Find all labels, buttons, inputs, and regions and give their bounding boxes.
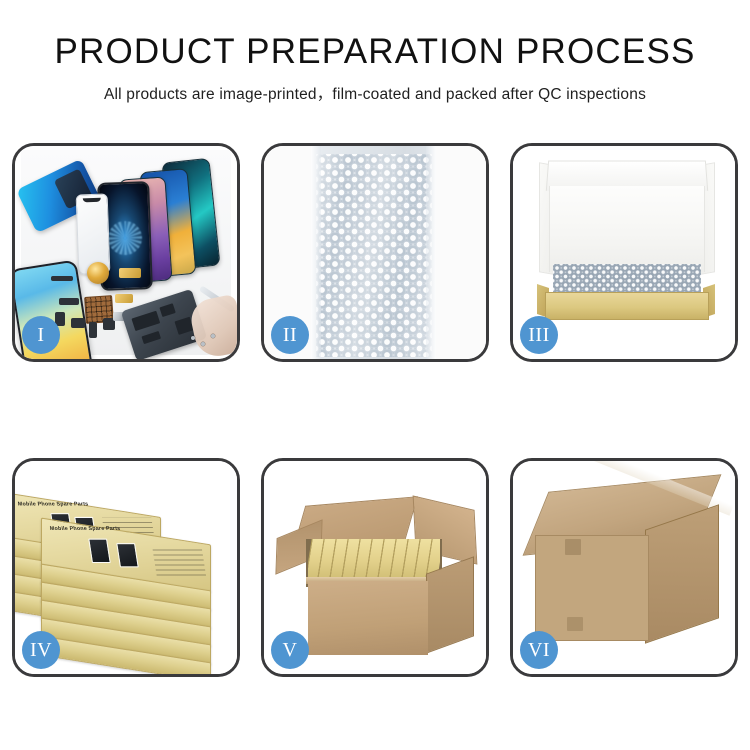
gold-connector-part-icon bbox=[119, 268, 141, 278]
retail-box-label: Mobile Phone Spare Parts bbox=[50, 526, 121, 532]
carton-bottom-tab-icon bbox=[567, 617, 583, 631]
box-window-icon bbox=[88, 539, 111, 563]
step-badge-3: III bbox=[520, 316, 558, 354]
bubble-wrap-left-edge-icon bbox=[311, 146, 321, 359]
bubble-wrap-bubbles-icon bbox=[316, 154, 432, 357]
screw-icon bbox=[211, 334, 215, 338]
step-badge-4: IV bbox=[22, 631, 60, 669]
carton-handle-tab-icon bbox=[565, 539, 581, 555]
step-4-illustration: Mobile Phone Spare Parts Mobile Phone Sp… bbox=[15, 461, 237, 674]
step-panel-2: II bbox=[261, 143, 489, 362]
step-panel-6: VI bbox=[510, 458, 738, 677]
step-panel-1: I bbox=[12, 143, 240, 362]
step-panel-3: III bbox=[510, 143, 738, 362]
sealed-carton-front-icon bbox=[535, 535, 649, 641]
step-1-illustration: I bbox=[15, 146, 237, 359]
box-interior-icon bbox=[549, 186, 705, 272]
step-badge-5: V bbox=[271, 631, 309, 669]
gold-coil-part-icon bbox=[87, 262, 109, 284]
step-panel-5: V bbox=[261, 458, 489, 677]
step-5-illustration: V bbox=[264, 461, 486, 674]
step-2-illustration: II bbox=[264, 146, 486, 359]
step-3-illustration: III bbox=[513, 146, 735, 359]
battery-connector-part-icon bbox=[115, 294, 133, 303]
jellyfish-wallpaper-icon bbox=[107, 220, 142, 255]
page-subtitle: All products are image-printed，film-coat… bbox=[0, 82, 750, 104]
step-badge-2: II bbox=[271, 316, 309, 354]
box-window-icon bbox=[116, 543, 139, 567]
retail-box-label: Mobile Phone Spare Parts bbox=[18, 501, 89, 507]
bubble-wrap-right-edge-icon bbox=[426, 146, 436, 359]
page-title: PRODUCT PREPARATION PROCESS bbox=[0, 34, 750, 71]
screw-icon bbox=[201, 342, 205, 346]
phone-notch-icon bbox=[83, 198, 101, 203]
page-header: PRODUCT PREPARATION PROCESS All products… bbox=[0, 0, 750, 104]
speaker-part-icon bbox=[71, 318, 85, 328]
carton-front-panel-icon bbox=[308, 581, 428, 655]
button-flex-part-icon bbox=[59, 298, 79, 305]
flex-cable-part-icon bbox=[51, 276, 73, 281]
step-badge-6: VI bbox=[520, 631, 558, 669]
step-badge-1: I bbox=[22, 316, 60, 354]
process-steps-grid: I II III bbox=[12, 143, 738, 677]
box-spec-lines-icon bbox=[152, 545, 206, 575]
step-6-illustration: VI bbox=[513, 461, 735, 674]
screw-icon bbox=[191, 336, 195, 340]
box-front-panel-icon bbox=[545, 292, 709, 320]
sim-tray-part-icon bbox=[89, 322, 97, 338]
box-bubble-wrap-liner-icon bbox=[553, 264, 701, 294]
step-panel-4: Mobile Phone Spare Parts Mobile Phone Sp… bbox=[12, 458, 240, 677]
